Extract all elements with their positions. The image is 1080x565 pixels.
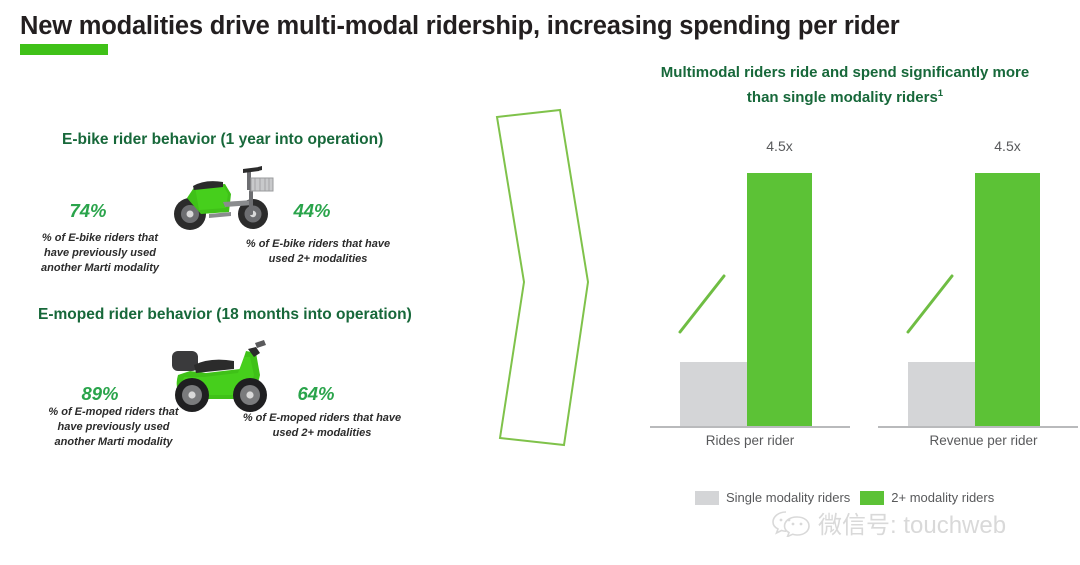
title-accent-underline bbox=[20, 44, 108, 55]
wechat-icon bbox=[772, 509, 810, 537]
emoped-stat-value-2: 64% bbox=[276, 383, 356, 405]
emoped-section-heading: E-moped rider behavior (18 months into o… bbox=[38, 306, 412, 324]
bar-chart: 4.5x Rides per rider 4.5x Revenue per ri… bbox=[650, 130, 1050, 460]
chart-heading-line-2: than single modality riders bbox=[747, 89, 938, 106]
bar-single-modality-rides bbox=[680, 362, 747, 426]
legend-swatch-single-modality bbox=[695, 491, 719, 505]
bar-multi-modality-revenue bbox=[975, 173, 1040, 426]
chart-category-label-revenue: Revenue per rider bbox=[896, 433, 1071, 448]
chart-heading-footnote-marker: 1 bbox=[938, 88, 943, 99]
emoped-stat-value-1: 89% bbox=[60, 383, 140, 405]
watermark-text: 微信号: touchweb bbox=[818, 505, 1006, 540]
ebike-section-heading: E-bike rider behavior (1 year into opera… bbox=[62, 131, 383, 149]
ebike-stat-caption-1: % of E-bike riders that have previously … bbox=[30, 231, 170, 276]
chart-legend: Single modality riders 2+ modality rider… bbox=[695, 490, 994, 505]
legend-swatch-multi-modality bbox=[860, 491, 884, 505]
page-title: New modalities drive multi-modal ridersh… bbox=[20, 12, 900, 41]
legend-label-single-modality: Single modality riders bbox=[726, 490, 850, 505]
bar-value-label-rides: 4.5x bbox=[747, 138, 812, 154]
chart-axis-line-group-2 bbox=[878, 426, 1078, 428]
trend-arrow-icon-group-2 bbox=[904, 272, 956, 336]
bar-single-modality-revenue bbox=[908, 362, 975, 426]
chevron-right-outline-icon bbox=[482, 105, 602, 450]
chart-axis-line-group-1 bbox=[650, 426, 850, 428]
chart-heading: Multimodal riders ride and spend signifi… bbox=[640, 62, 1050, 108]
legend-label-multi-modality: 2+ modality riders bbox=[891, 490, 994, 505]
legend-entry-single-modality: Single modality riders bbox=[695, 490, 850, 505]
ebike-stat-value-2: 44% bbox=[272, 200, 352, 222]
emoped-stat-caption-1: % of E-moped riders that have previously… bbox=[36, 405, 191, 450]
chart-heading-line-1: Multimodal riders ride and spend signifi… bbox=[661, 64, 1029, 81]
bar-value-label-revenue: 4.5x bbox=[975, 138, 1040, 154]
chart-category-label-rides: Rides per rider bbox=[670, 433, 830, 448]
emoped-stat-caption-2: % of E-moped riders that have used 2+ mo… bbox=[238, 411, 406, 441]
ebike-stat-value-1: 74% bbox=[48, 200, 128, 222]
bar-multi-modality-rides bbox=[747, 173, 812, 426]
e-bike-icon bbox=[165, 158, 277, 236]
legend-entry-multi-modality: 2+ modality riders bbox=[860, 490, 994, 505]
ebike-stat-caption-2: % of E-bike riders that have used 2+ mod… bbox=[243, 237, 393, 267]
trend-arrow-icon-group-1 bbox=[676, 272, 728, 336]
wechat-watermark: 微信号: touchweb bbox=[772, 505, 1006, 540]
